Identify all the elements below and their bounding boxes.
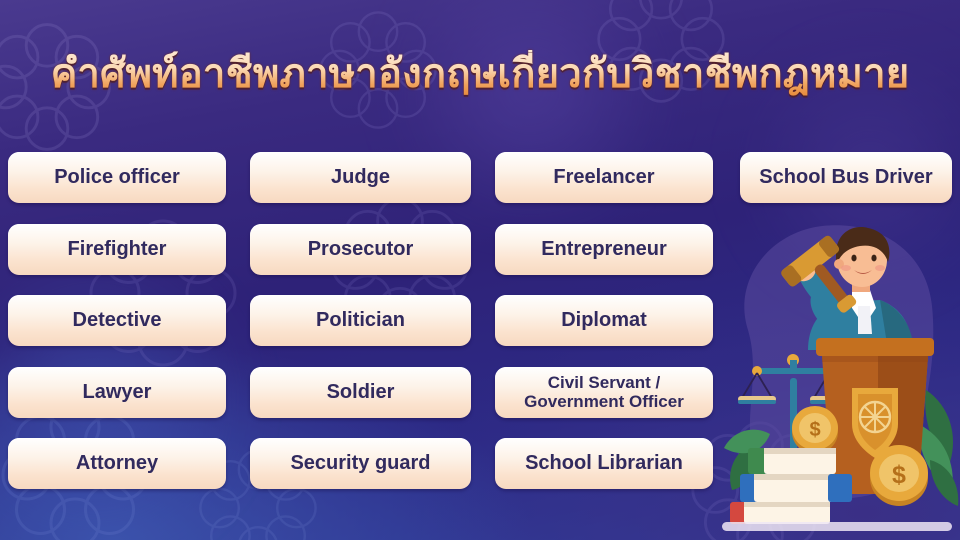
vocab-pill-label: Firefighter bbox=[68, 238, 167, 260]
vocab-pill[interactable]: Civil Servant /Government Officer bbox=[495, 367, 713, 418]
vocab-pill-label: Entrepreneur bbox=[541, 238, 667, 260]
vocab-pill[interactable]: Soldier bbox=[250, 367, 471, 418]
vocab-pill-label: Attorney bbox=[76, 452, 158, 474]
vocab-pill[interactable]: Judge bbox=[250, 152, 471, 203]
vocab-pill-label: Security guard bbox=[290, 452, 430, 474]
vocab-pill[interactable]: Attorney bbox=[8, 438, 226, 489]
vocab-pill-label: Lawyer bbox=[83, 381, 152, 403]
vocab-pill[interactable]: Firefighter bbox=[8, 224, 226, 275]
vocab-pill-label: School Bus Driver bbox=[759, 166, 932, 188]
vocab-pill[interactable]: Politician bbox=[250, 295, 471, 346]
vocab-pill[interactable]: Entrepreneur bbox=[495, 224, 713, 275]
vocab-pill-label: Detective bbox=[73, 309, 162, 331]
vocab-pill-label: Civil Servant /Government Officer bbox=[524, 373, 684, 411]
vocab-pill-label: Police officer bbox=[54, 166, 180, 188]
vocab-pill-label: Prosecutor bbox=[308, 238, 414, 260]
vocab-pill-label: Freelancer bbox=[553, 166, 654, 188]
vocab-pill[interactable]: Lawyer bbox=[8, 367, 226, 418]
vocab-pill-label: Diplomat bbox=[561, 309, 647, 331]
vocab-pill-label: Judge bbox=[331, 166, 390, 188]
vocab-pill[interactable]: Freelancer bbox=[495, 152, 713, 203]
vocab-pill[interactable]: Prosecutor bbox=[250, 224, 471, 275]
vocab-pill[interactable]: Police officer bbox=[8, 152, 226, 203]
vocab-pill[interactable]: Diplomat bbox=[495, 295, 713, 346]
vocab-pill[interactable]: School Bus Driver bbox=[740, 152, 952, 203]
header: คำศัพท์อาชีพภาษาอังกฤษเกี่ยวกับวิชาชีพกฎ… bbox=[0, 46, 960, 108]
page-title: คำศัพท์อาชีพภาษาอังกฤษเกี่ยวกับวิชาชีพกฎ… bbox=[51, 50, 910, 104]
vocab-pill-label: School Librarian bbox=[525, 452, 683, 474]
vocab-pill-label: Politician bbox=[316, 309, 405, 331]
vocab-pill[interactable]: Security guard bbox=[250, 438, 471, 489]
vocab-pill[interactable]: School Librarian bbox=[495, 438, 713, 489]
vocab-pill-label: Soldier bbox=[327, 381, 395, 403]
vocab-pill[interactable]: Detective bbox=[8, 295, 226, 346]
